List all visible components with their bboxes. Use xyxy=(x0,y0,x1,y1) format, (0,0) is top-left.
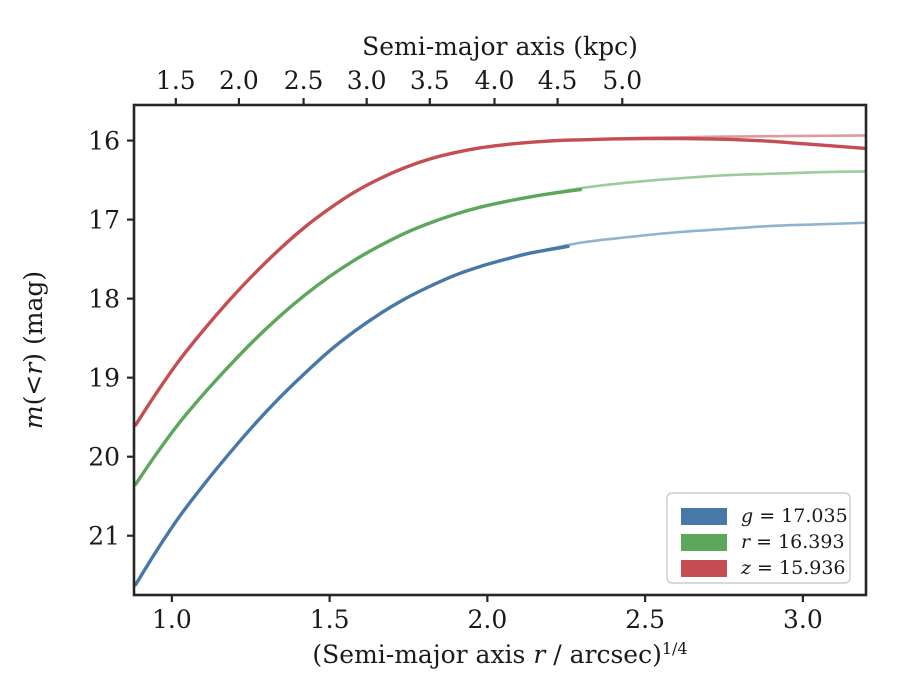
legend-label-g: g = 17.035 xyxy=(741,505,848,527)
xtick-label-bottom: 1.0 xyxy=(152,605,192,634)
legend-label-value-g: = 17.035 xyxy=(753,505,847,527)
y-axis-title-post: ) (mag) xyxy=(19,271,48,363)
chart-svg: 1.01.52.02.53.01.52.02.53.03.54.04.55.01… xyxy=(0,0,900,700)
xtick-label-top: 5.0 xyxy=(602,66,642,95)
xtick-label-top: 3.5 xyxy=(410,66,450,95)
legend-swatch-g[interactable] xyxy=(681,508,727,525)
legend-label-value-r: = 16.393 xyxy=(750,531,844,553)
xtick-label-top: 1.5 xyxy=(156,66,196,95)
ytick-label: 16 xyxy=(88,127,120,156)
top-axis-title: Semi-major axis (kpc) xyxy=(362,32,638,61)
xtick-label-top: 4.0 xyxy=(475,66,515,95)
legend-label-z: z = 15.936 xyxy=(740,557,846,579)
ytick-label: 17 xyxy=(88,206,120,235)
legend: g = 17.035r = 16.393z = 15.936 xyxy=(667,493,850,583)
xtick-label-bottom: 3.0 xyxy=(783,605,823,634)
y-axis-title: m(<r) (mag) xyxy=(19,271,48,429)
ytick-label: 19 xyxy=(88,364,120,393)
figure-canvas: 1.01.52.02.53.01.52.02.53.03.54.04.55.01… xyxy=(0,0,900,700)
xtick-label-top: 2.5 xyxy=(284,66,324,95)
legend-label-symbol-g: g xyxy=(741,505,753,527)
xtick-label-bottom: 2.5 xyxy=(625,605,665,634)
xtick-label-bottom: 2.0 xyxy=(467,605,507,634)
ytick-label: 21 xyxy=(88,522,120,551)
legend-label-value-z: = 15.936 xyxy=(751,557,845,579)
xtick-label-top: 2.0 xyxy=(219,66,259,95)
legend-swatch-r[interactable] xyxy=(681,534,727,551)
x-axis-title: (Semi-major axis r / arcsec)1/4 xyxy=(312,639,687,670)
xtick-label-top: 3.0 xyxy=(347,66,387,95)
xtick-label-bottom: 1.5 xyxy=(310,605,350,634)
legend-swatch-z[interactable] xyxy=(681,560,727,577)
x-axis-title-post: / arcsec) xyxy=(545,640,662,669)
y-axis-title-m: m xyxy=(19,405,48,429)
x-axis-title-pre: (Semi-major axis xyxy=(312,640,533,669)
xtick-label-top: 4.5 xyxy=(538,66,578,95)
legend-label-r: r = 16.393 xyxy=(741,531,845,553)
ytick-label: 18 xyxy=(88,285,120,314)
ytick-label: 20 xyxy=(88,443,120,472)
y-axis-title-mid: (< xyxy=(19,375,48,406)
x-axis-title-exponent: 1/4 xyxy=(662,639,688,658)
